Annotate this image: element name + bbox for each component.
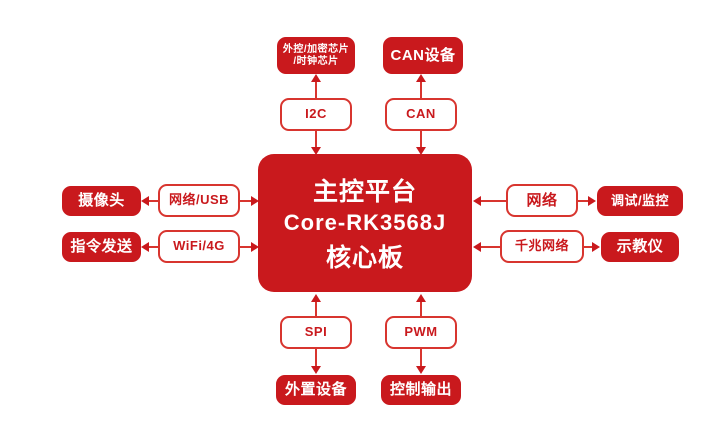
interface-box-network[interactable]: 网络 [506, 184, 578, 217]
connector-can-to-core [420, 131, 422, 148]
arrow-up-pwm-core [416, 294, 426, 302]
connector-spi-to-core [315, 300, 317, 316]
interface-box-network-usb[interactable]: 网络/USB [158, 184, 240, 217]
arrow-right-wifi-4g-core [251, 242, 259, 252]
interface-box-wifi-4g[interactable]: WiFi/4G [158, 230, 240, 263]
connector-can-to-device [420, 80, 422, 98]
interface-box-gigabit-network[interactable]: 千兆网络 [500, 230, 584, 263]
core-title-line2: Core-RK3568J [284, 210, 446, 236]
device-box-external-control-chip[interactable]: 外控/加密芯片 /时钟芯片 [277, 37, 355, 74]
interface-box-i2c[interactable]: I2C [280, 98, 352, 131]
connector-i2c-to-core [315, 131, 317, 148]
arrow-left-network-usb-camera [141, 196, 149, 206]
interface-box-can[interactable]: CAN [385, 98, 457, 131]
device-box-teach-pendant[interactable]: 示教仪 [601, 232, 679, 262]
device-box-control-output[interactable]: 控制输出 [381, 375, 461, 405]
arrow-right-network-debug [588, 196, 596, 206]
arrow-up-can-device [416, 74, 426, 82]
interface-box-pwm[interactable]: PWM [385, 316, 457, 349]
arrow-up-spi-core [311, 294, 321, 302]
system-block-diagram: 主控平台 Core-RK3568J 核心板 外控/加密芯片 /时钟芯片 I2C … [0, 0, 711, 430]
connector-pwm-to-core [420, 300, 422, 316]
core-title-line1: 主控平台 [313, 172, 417, 208]
connector-spi-to-device [315, 349, 317, 367]
core-title-line3: 核心板 [326, 238, 404, 274]
arrow-down-can-core [416, 147, 426, 155]
connector-wifi-4g-to-command [148, 246, 159, 248]
arrow-down-spi-device [311, 366, 321, 374]
connector-network-to-core [480, 200, 506, 202]
connector-network-usb-to-camera [148, 200, 159, 202]
core-platform-block[interactable]: 主控平台 Core-RK3568J 核心板 [258, 154, 472, 292]
arrow-left-gigabit-core [473, 242, 481, 252]
connector-gigabit-to-core [480, 246, 500, 248]
device-box-camera[interactable]: 摄像头 [62, 186, 141, 216]
device-box-can-device[interactable]: CAN设备 [383, 37, 463, 74]
arrow-up-i2c-device [311, 74, 321, 82]
arrow-left-network-core [473, 196, 481, 206]
arrow-left-wifi-4g-command [141, 242, 149, 252]
device-box-external-device[interactable]: 外置设备 [276, 375, 356, 405]
device-box-debug-monitor[interactable]: 调试/监控 [597, 186, 683, 216]
arrow-right-network-usb-core [251, 196, 259, 206]
arrow-down-i2c-core [311, 147, 321, 155]
connector-i2c-to-device [315, 80, 317, 98]
interface-box-spi[interactable]: SPI [280, 316, 352, 349]
connector-pwm-to-device [420, 349, 422, 367]
arrow-down-pwm-device [416, 366, 426, 374]
device-box-command-send[interactable]: 指令发送 [62, 232, 141, 262]
arrow-right-gigabit-teach [592, 242, 600, 252]
